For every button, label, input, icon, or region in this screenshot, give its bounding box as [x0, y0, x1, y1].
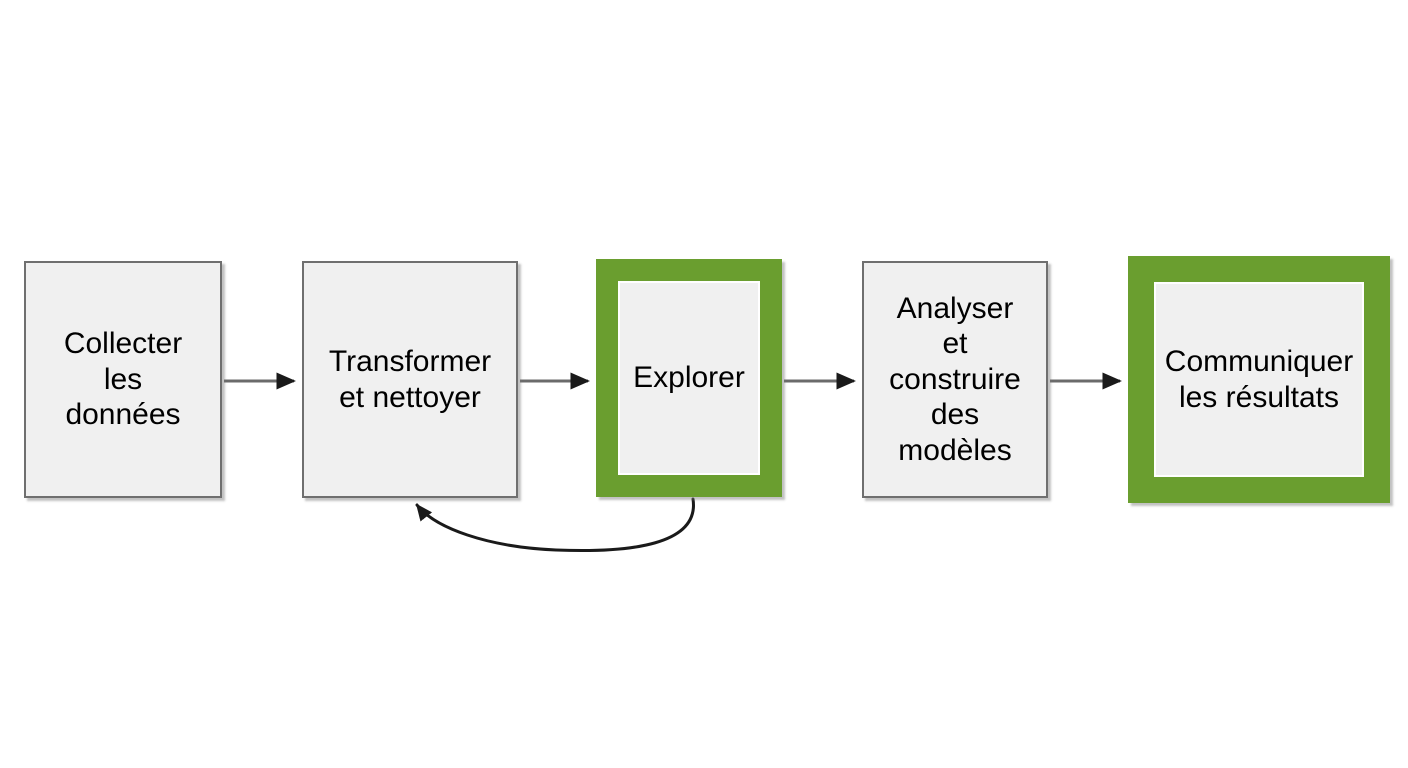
node-transformer-label: Transformer et nettoyer — [323, 344, 497, 415]
node-collecter-label: Collecter les données — [58, 326, 188, 432]
node-analyser[interactable]: Analyser et construire des modèles — [862, 261, 1048, 498]
node-explorer-inner: Explorer — [618, 281, 760, 475]
node-explorer[interactable]: Explorer — [596, 259, 782, 497]
node-analyser-label: Analyser et construire des modèles — [883, 291, 1027, 468]
node-communiquer[interactable]: Communiquer les résultats — [1128, 256, 1390, 503]
diagram-canvas: Collecter les données Transformer et net… — [0, 0, 1408, 768]
node-communiquer-label: Communiquer les résultats — [1159, 344, 1359, 415]
connector-explorer-back-to-transformer — [417, 499, 693, 551]
node-communiquer-inner: Communiquer les résultats — [1154, 282, 1364, 477]
node-explorer-label: Explorer — [627, 360, 751, 395]
node-transformer[interactable]: Transformer et nettoyer — [302, 261, 518, 498]
node-collecter[interactable]: Collecter les données — [24, 261, 222, 498]
